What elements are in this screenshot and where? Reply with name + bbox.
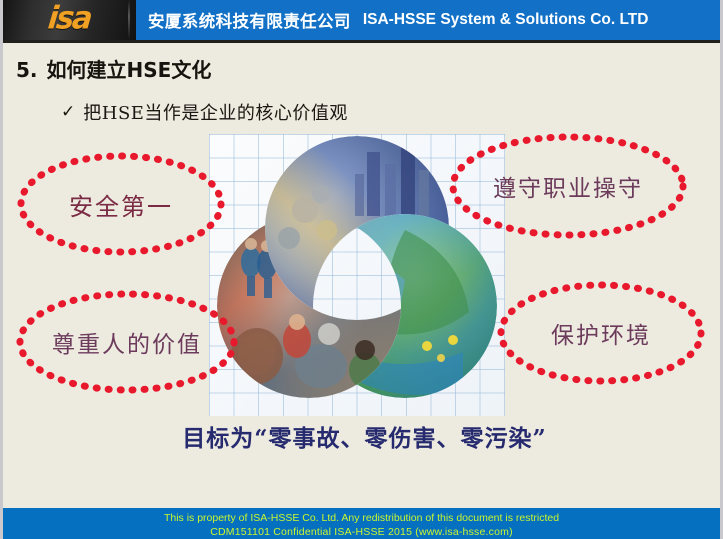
society-circle <box>217 214 401 398</box>
check-icon: ✓ <box>61 102 75 122</box>
page-title-number: 5. <box>16 58 38 82</box>
callout-protect-environment-label: 保护环境 <box>551 316 651 350</box>
isa-logo-text: isa <box>47 3 93 37</box>
slide-header: isa 安厦系统科技有限责任公司 ISA-HSSE System & Solut… <box>3 0 723 40</box>
callout-respect-people-label: 尊重人的价值 <box>52 325 202 359</box>
callout-safety-first-label: 安全第一 <box>69 187 173 222</box>
slide: isa 安厦系统科技有限责任公司 ISA-HSSE System & Solut… <box>0 0 723 539</box>
callout-professional-ethics: 遵守职业操守 <box>449 133 687 239</box>
callout-safety-first: 安全第一 <box>17 152 225 256</box>
company-name-en: ISA-HSSE System & Solutions Co. LTD <box>363 11 649 29</box>
goal-caption: 目标为“零事故、零伤害、零污染” <box>3 419 723 453</box>
callout-protect-environment: 保护环境 <box>497 281 705 385</box>
header-title-bar: 安厦系统科技有限责任公司 ISA-HSSE System & Solutions… <box>136 0 723 40</box>
bullet-item: ✓ 把HSE当作是企业的核心价值观 <box>61 99 348 125</box>
footer-line-2: CDM151101 Confidential ISA-HSSE 2015 (ww… <box>0 525 723 539</box>
page-title: 5.如何建立HSE文化 <box>16 54 211 83</box>
slide-footer: This is property of ISA-HSSE Co. Ltd. An… <box>0 508 723 539</box>
company-name-cn: 安厦系统科技有限责任公司 <box>148 8 351 32</box>
footer-line-1: This is property of ISA-HSSE Co. Ltd. An… <box>0 511 723 525</box>
bullet-item-label: 把HSE当作是企业的核心价值观 <box>83 99 348 125</box>
header-divider <box>3 40 723 43</box>
page-title-text: 如何建立HSE文化 <box>47 58 212 82</box>
callout-professional-ethics-label: 遵守职业操守 <box>493 169 643 203</box>
isa-logo: isa <box>3 0 136 40</box>
callout-respect-people: 尊重人的价值 <box>16 290 238 394</box>
